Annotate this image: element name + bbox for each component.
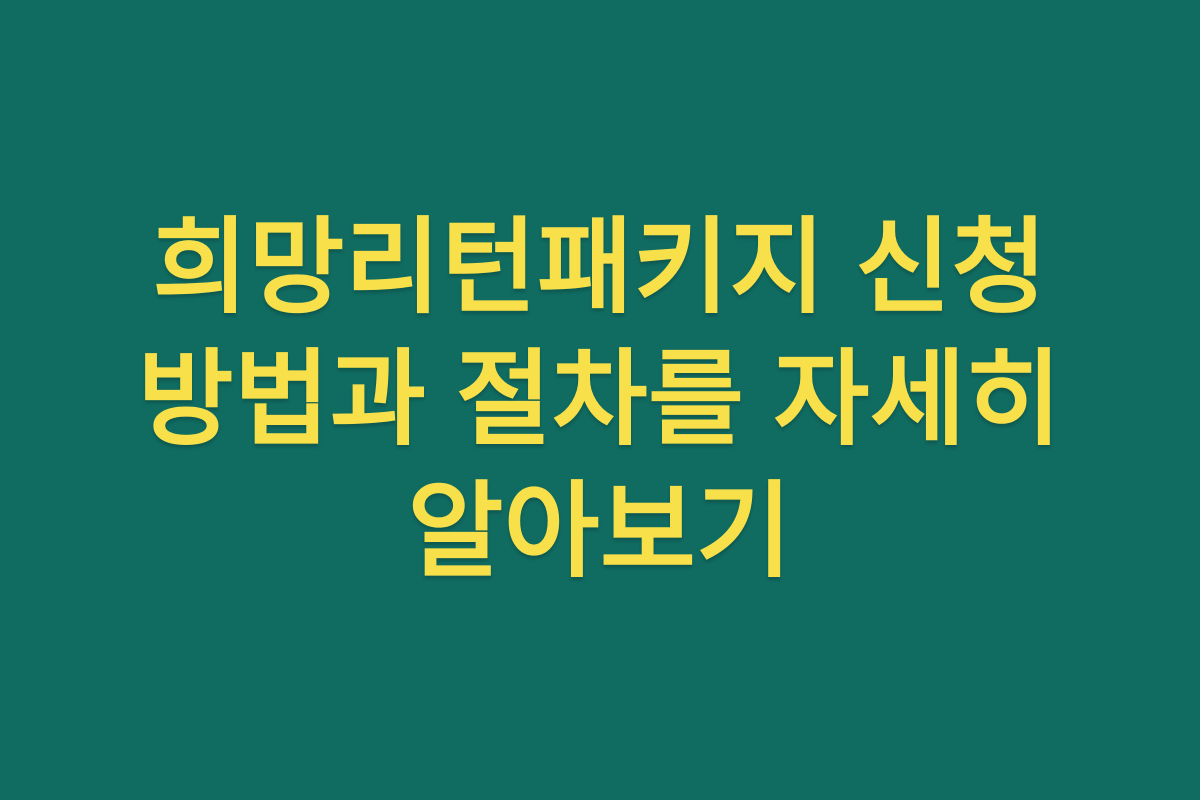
thumbnail-canvas: 희망리턴패키지 신청 방법과 절차를 자세히 알아보기	[0, 0, 1200, 800]
headline-text: 희망리턴패키지 신청 방법과 절차를 자세히 알아보기	[90, 202, 1110, 598]
